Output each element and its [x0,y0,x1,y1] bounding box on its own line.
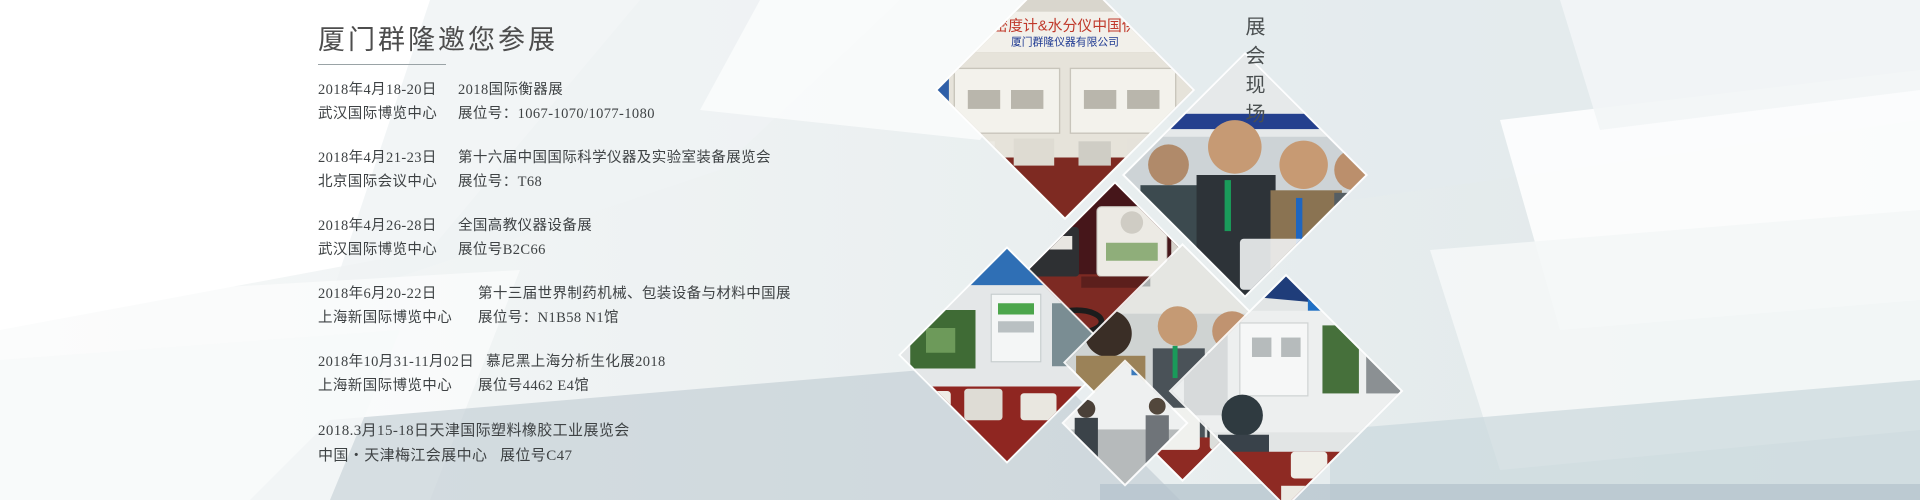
event-line-date: 2018.3月15-18日天津国际塑料橡胶工业展览会 [318,419,978,443]
event-line-venue: 武汉国际博览中心 展位号：1067-1070/1077-1080 [318,103,978,126]
event-venue: 北京国际会议中心 [318,171,446,194]
event-line-venue: 北京国际会议中心 展位号：T68 [318,171,978,194]
event-venue: 武汉国际博览中心 [318,239,446,262]
vertical-label-onsite: 展会现场 [1242,16,1264,132]
svg-text:厦门群隆仪器有限公司: 厦门群隆仪器有限公司 [1011,34,1119,48]
event-name: 2018国际衡器展 [446,79,563,102]
event-date: 2018年4月26-28日 [318,215,446,238]
event-line-venue: 上海新国际博览中心 展位号4462 E4馆 [318,375,978,398]
event-item: 2018年10月31-11月02日 慕尼黑上海分析生化展2018 上海新国际博览… [318,351,978,398]
photo-collage: 密度计&水分仪中国供 厦门群隆仪器有限公司 [1030,0,1510,500]
event-venue: 上海新国际博览中心 [318,307,466,330]
event-item: 2018年4月21-23日 第十六届中国国际科学仪器及实验室装备展览会 北京国际… [318,147,978,194]
event-date: 2018年4月21-23日 [318,147,446,170]
content-column: 厦门群隆邀您参展 2018年4月18-20日 2018国际衡器展 武汉国际博览中… [318,22,978,468]
event-item: 2018年4月26-28日 全国高教仪器设备展 武汉国际博览中心 展位号B2C6… [318,215,978,262]
exhibition-banner: 厦门群隆邀您参展 2018年4月18-20日 2018国际衡器展 武汉国际博览中… [0,0,1920,500]
event-item: 2018年6月20-22日 第十三届世界制药机械、包装设备与材料中国展 上海新国… [318,283,978,330]
event-booth: 展位号：T68 [446,171,542,194]
svg-text:密度计&水分仪中国供: 密度计&水分仪中国供 [993,18,1137,35]
event-line-date: 2018年4月26-28日 全国高教仪器设备展 [318,215,978,238]
event-item: 2018年4月18-20日 2018国际衡器展 武汉国际博览中心 展位号：106… [318,79,978,126]
event-venue: 上海新国际博览中心 [318,375,466,398]
event-booth: 展位号：N1B58 N1馆 [466,307,619,330]
event-venue: 中国・天津梅江会展中心 [318,444,488,468]
event-name: 慕尼黑上海分析生化展2018 [474,351,666,374]
event-line-date: 2018年4月21-23日 第十六届中国国际科学仪器及实验室装备展览会 [318,147,978,170]
event-item: 2018.3月15-18日天津国际塑料橡胶工业展览会 中国・天津梅江会展中心 展… [318,419,978,468]
event-line-venue: 中国・天津梅江会展中心 展位号C47 [318,444,978,468]
event-date: 2018年4月18-20日 [318,79,446,102]
page-title: 厦门群隆邀您参展 [318,22,978,58]
event-name: 第十三届世界制药机械、包装设备与材料中国展 [466,283,791,306]
event-line-date: 2018年4月18-20日 2018国际衡器展 [318,79,978,102]
event-date: 2018年6月20-22日 [318,283,466,306]
event-name: 第十六届中国国际科学仪器及实验室装备展览会 [446,147,771,170]
event-date: 2018年10月31-11月02日 [318,351,474,374]
event-date: 2018.3月15-18日天津国际塑料橡胶工业展览会 [318,419,630,443]
event-booth: 展位号：1067-1070/1077-1080 [446,103,655,126]
event-venue: 武汉国际博览中心 [318,103,446,126]
event-line-venue: 上海新国际博览中心 展位号：N1B58 N1馆 [318,307,978,330]
event-name: 全国高教仪器设备展 [446,215,592,238]
title-divider [318,64,446,65]
event-line-date: 2018年10月31-11月02日 慕尼黑上海分析生化展2018 [318,351,978,374]
event-booth: 展位号B2C66 [446,239,546,262]
event-line-date: 2018年6月20-22日 第十三届世界制药机械、包装设备与材料中国展 [318,283,978,306]
event-line-venue: 武汉国际博览中心 展位号B2C66 [318,239,978,262]
event-booth: 展位号C47 [488,444,572,468]
event-booth: 展位号4462 E4馆 [466,375,589,398]
